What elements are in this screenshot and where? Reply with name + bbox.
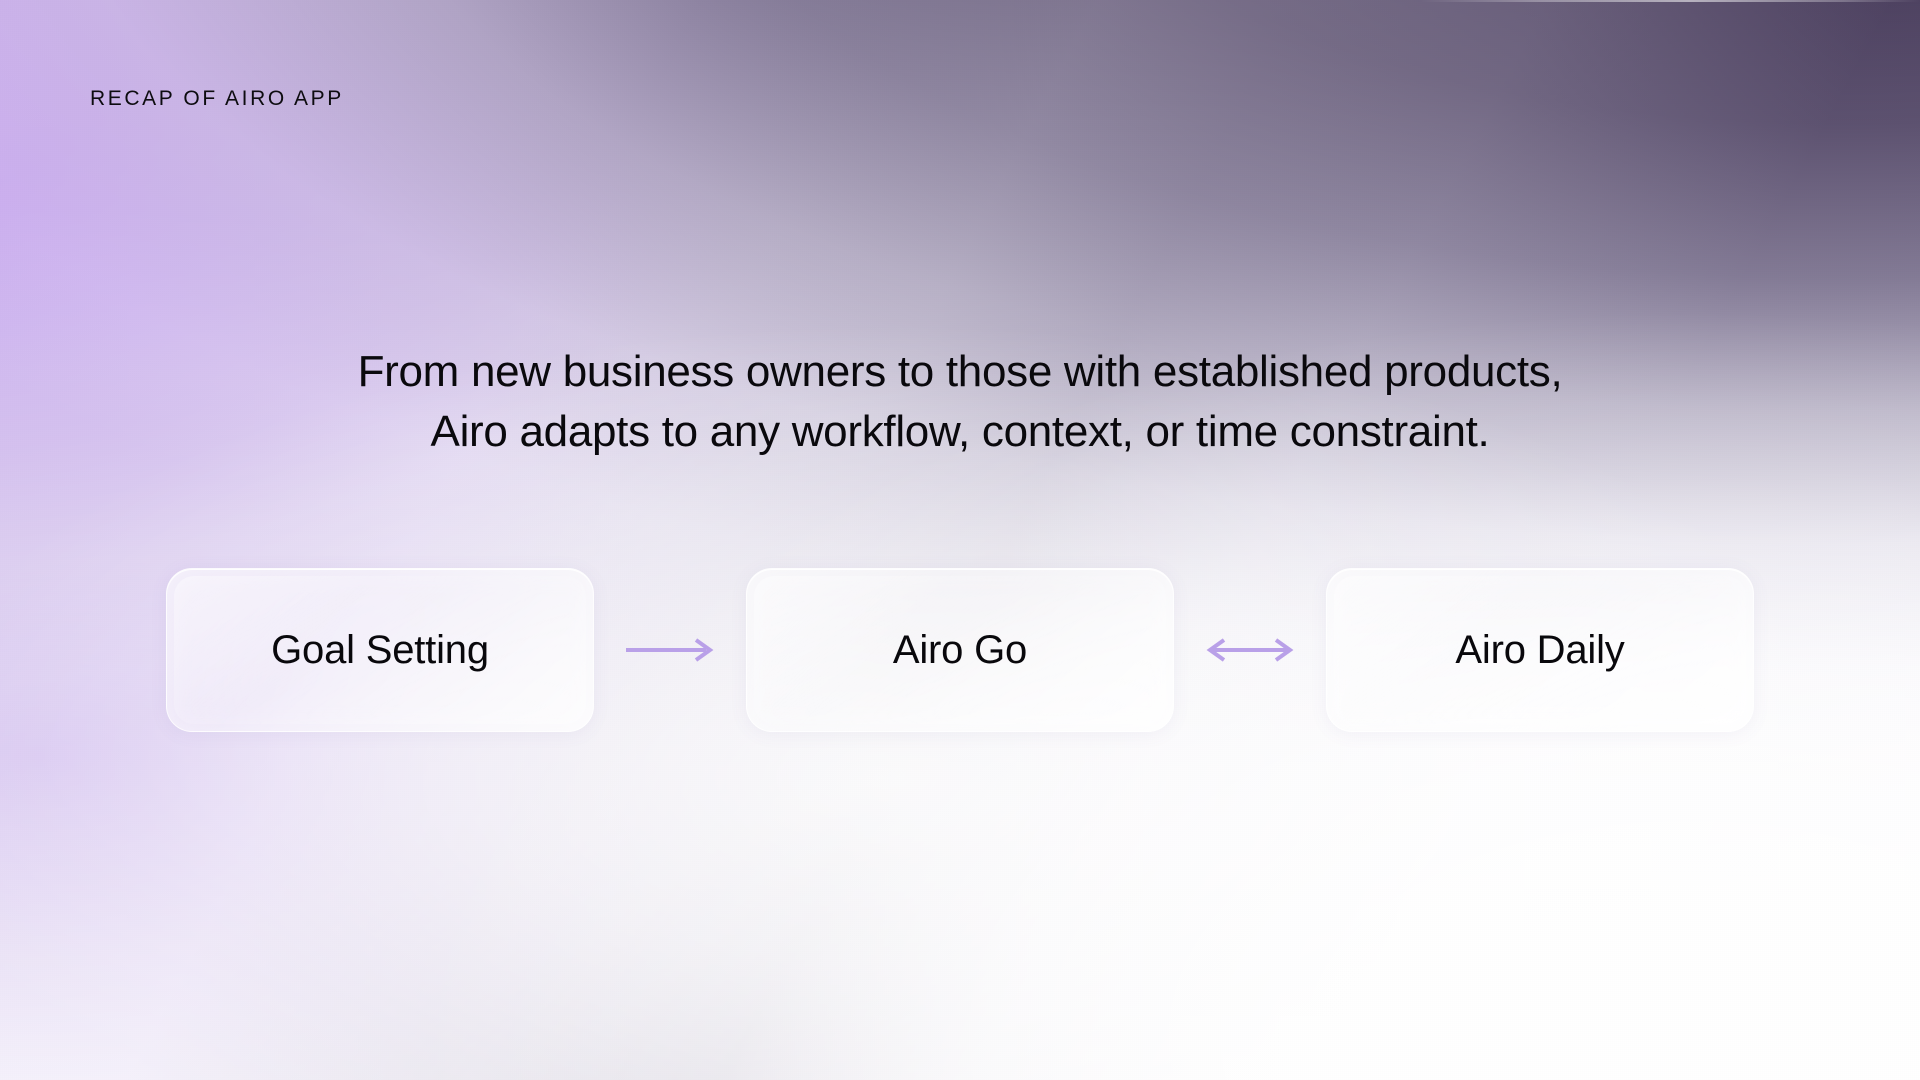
headline-line-1: From new business owners to those with e… [0,342,1920,402]
slide-content: RECAP OF AIRO APP From new business owne… [0,0,1920,1080]
flow-connector-1 [594,568,746,732]
arrow-right-icon [624,637,716,663]
slide-headline: From new business owners to those with e… [0,342,1920,462]
flow-card-label: Goal Setting [271,628,489,673]
flow-card-goal-setting[interactable]: Goal Setting [166,568,594,732]
flow-card-airo-daily[interactable]: Airo Daily [1326,568,1754,732]
arrow-left-right-icon [1204,637,1296,663]
flow-diagram: Goal Setting Airo Go [0,568,1920,732]
flow-card-label: Airo Go [893,628,1027,673]
slide-eyebrow-label: RECAP OF AIRO APP [90,86,344,111]
flow-card-airo-go[interactable]: Airo Go [746,568,1174,732]
headline-line-2: Airo adapts to any workflow, context, or… [0,402,1920,462]
flow-card-label: Airo Daily [1455,628,1624,673]
slide-canvas: RECAP OF AIRO APP From new business owne… [0,0,1920,1080]
flow-connector-2 [1174,568,1326,732]
